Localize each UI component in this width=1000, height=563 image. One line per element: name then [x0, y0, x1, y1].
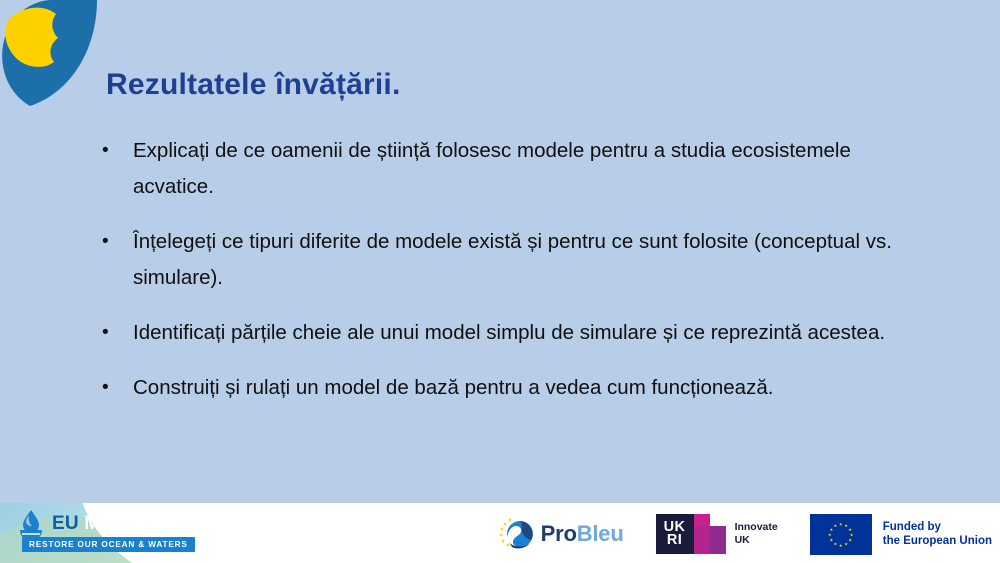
- bullet-marker: •: [96, 133, 133, 169]
- eu-missions-title-missions: MISSIONS: [84, 513, 179, 534]
- eu-funding-line-2: the European Union: [883, 534, 992, 549]
- bullet-marker: •: [96, 370, 133, 406]
- eu-funding-wordmark: Funded by the European Union: [883, 520, 992, 549]
- bullet-marker: •: [96, 224, 133, 260]
- innovate-uk-wordmark: Innovate UK: [735, 521, 778, 547]
- list-item-text: Înțelegeți ce tipuri diferite de modele …: [133, 224, 926, 296]
- list-item: • Explicați de ce oamenii de știință fol…: [96, 133, 926, 205]
- ukri-shape: [710, 526, 726, 554]
- eu-funding-line-1: Funded by: [883, 520, 992, 535]
- list-item-text: Identificați părțile cheie ale unui mode…: [133, 315, 926, 351]
- ukri-mark-icon: UK RI: [656, 514, 726, 554]
- eu-funding-logo: Funded by the European Union: [810, 514, 992, 555]
- list-item: • Identificați părțile cheie ale unui mo…: [96, 315, 926, 351]
- list-item-text: Explicați de ce oamenii de știință folos…: [133, 133, 926, 205]
- leaf-droplet-logo-icon: [0, 0, 112, 112]
- slide-canvas: Rezultatele învățării. • Explicați de ce…: [0, 0, 1000, 563]
- page-title: Rezultatele învățării.: [106, 68, 401, 102]
- learning-outcomes-list: • Explicați de ce oamenii de știință fol…: [96, 133, 926, 425]
- ukri-lettering: UK RI: [656, 514, 694, 554]
- innovate-uk-logo: UK RI Innovate UK: [656, 514, 778, 554]
- partner-logo-row: ProBleu UK RI Innovate UK: [499, 512, 992, 556]
- probleu-word-bleu: Bleu: [577, 521, 624, 546]
- eu-flag-icon: [810, 514, 872, 555]
- slide-footer: EU MISSIONS RESTORE OUR OCEAN & WATERS: [0, 503, 1000, 563]
- probleu-wordmark: ProBleu: [541, 523, 624, 545]
- probleu-logo: ProBleu: [499, 516, 624, 552]
- eu-missions-content: EU MISSIONS RESTORE OUR OCEAN & WATERS: [10, 509, 210, 557]
- eu-missions-title-eu: EU: [52, 513, 79, 534]
- bullet-marker: •: [96, 315, 133, 351]
- list-item: • Înțelegeți ce tipuri diferite de model…: [96, 224, 926, 296]
- probleu-emblem-icon: [499, 516, 535, 552]
- probleu-word-pro: Pro: [541, 521, 577, 546]
- innovate-uk-line-2: UK: [735, 534, 778, 547]
- innovate-uk-line-1: Innovate: [735, 521, 778, 534]
- ukri-line-2: RI: [667, 534, 683, 547]
- list-item: • Construiți și rulați un model de bază …: [96, 370, 926, 406]
- list-item-text: Construiți și rulați un model de bază pe…: [133, 370, 926, 406]
- eu-missions-title: EU MISSIONS: [52, 513, 179, 535]
- eu-missions-banner: EU MISSIONS RESTORE OUR OCEAN & WATERS: [0, 503, 222, 563]
- eu-missions-tagline: RESTORE OUR OCEAN & WATERS: [22, 537, 195, 552]
